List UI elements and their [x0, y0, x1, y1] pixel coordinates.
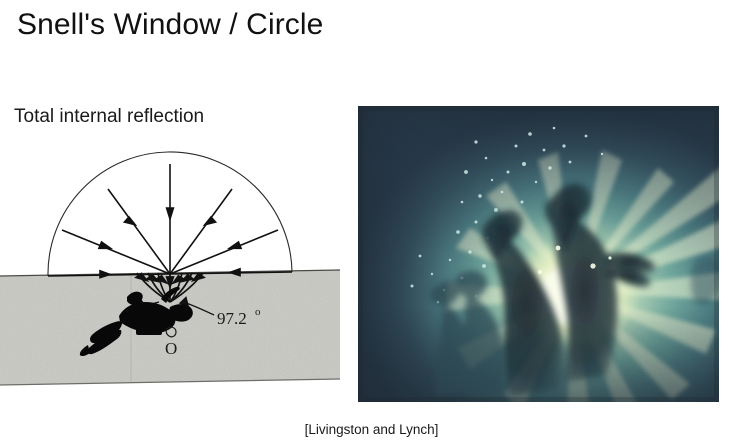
angle-label-value: 97.2	[217, 309, 247, 328]
figure-caption-text: [Livingston and Lynch]	[305, 422, 439, 437]
page-title: Snell's Window / Circle	[17, 8, 323, 42]
incident-rays	[48, 164, 292, 278]
film-grain	[358, 106, 719, 402]
underwater-photograph	[358, 106, 719, 402]
figure-caption: [Livingston and Lynch]	[0, 422, 729, 437]
snells-window-diagram: 97.2 o O	[0, 145, 340, 395]
section-label: Total internal reflection	[14, 106, 204, 128]
origin-point-label: O	[165, 339, 177, 358]
angle-label-degree-symbol: o	[255, 306, 261, 318]
